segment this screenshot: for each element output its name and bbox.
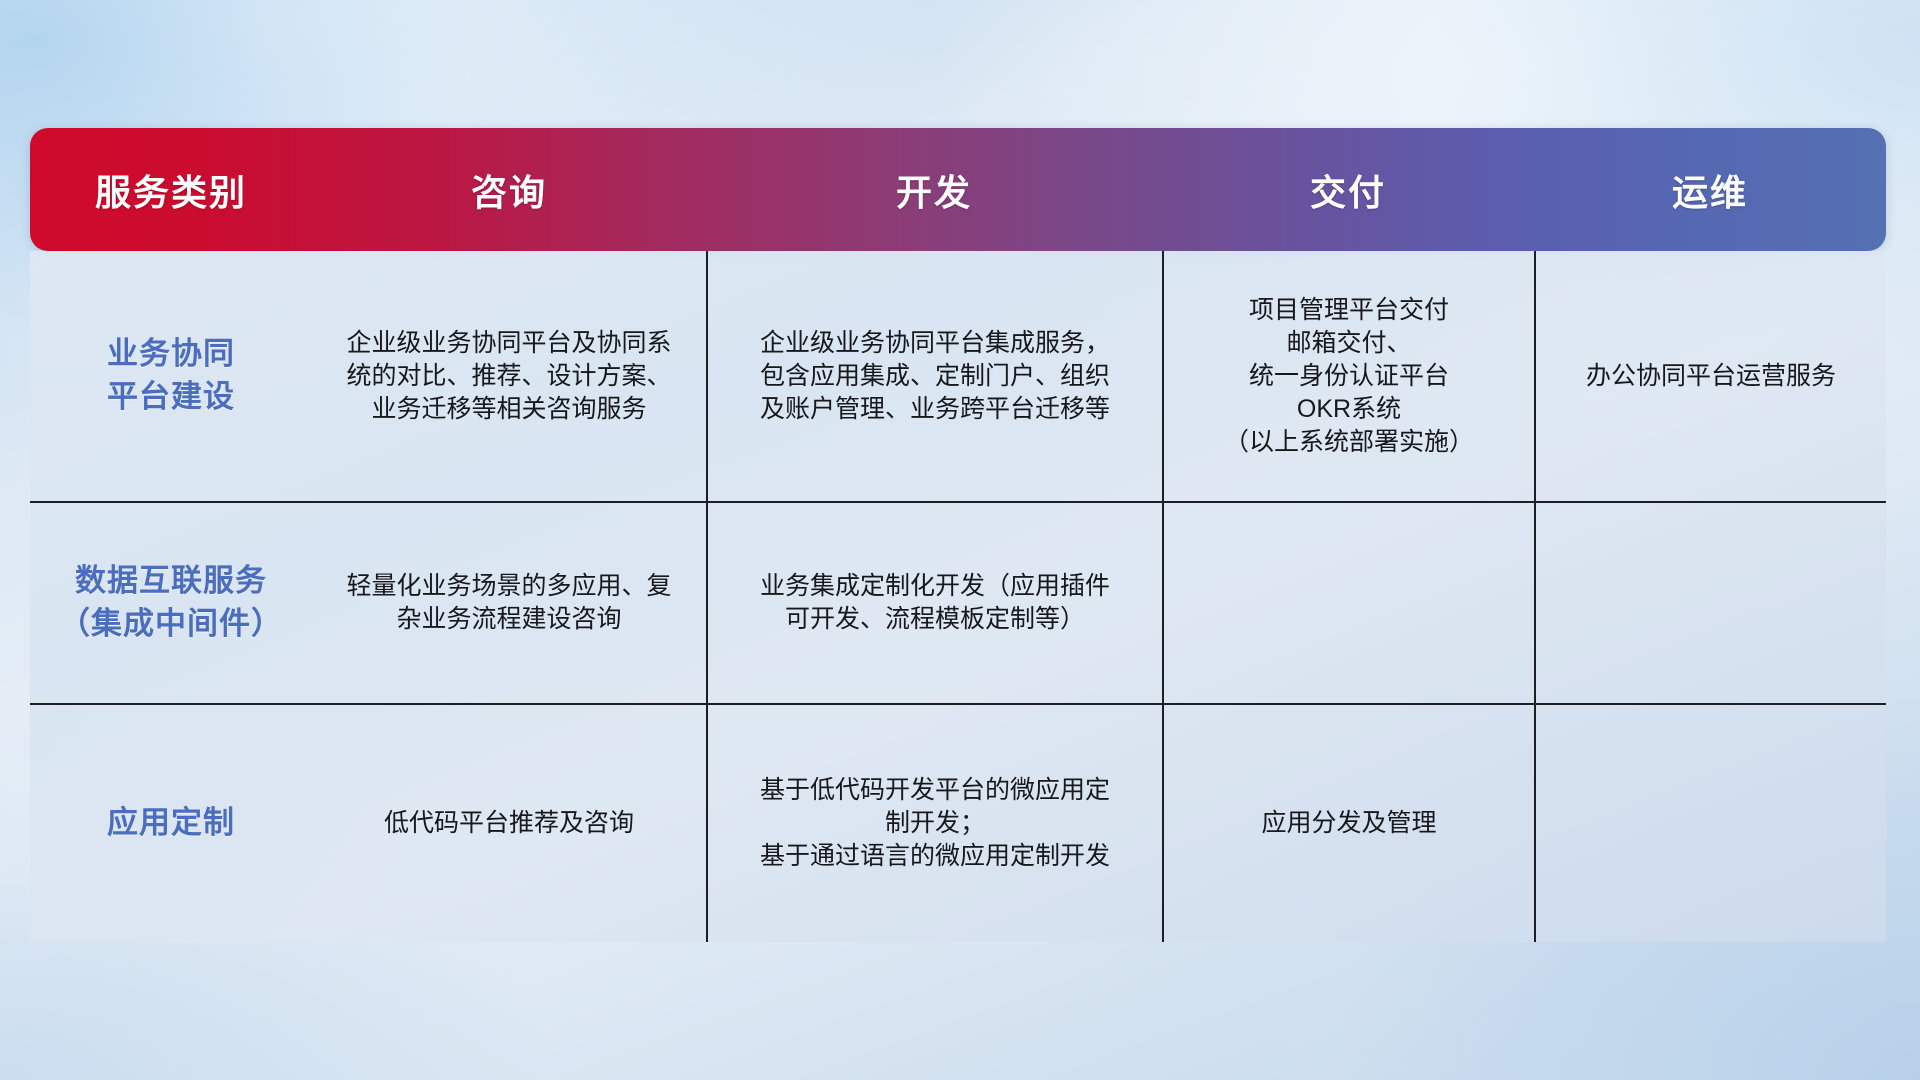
cell-consulting: 低代码平台推荐及咨询 (312, 705, 706, 942)
slide-canvas: 服务类别 咨询 开发 交付 运维 业务协同 平台建设 企业级业务协同平台及协同系… (0, 0, 1920, 1080)
row-category-label: 应用定制 (30, 705, 312, 942)
cell-delivery: 项目管理平台交付 邮箱交付、 统一身份认证平台 OKR系统 （以上系统部署实施） (1162, 251, 1534, 501)
column-header-delivery: 交付 (1162, 128, 1534, 251)
cell-development: 基于低代码开发平台的微应用定 制开发； 基于通过语言的微应用定制开发 (706, 705, 1162, 942)
cell-development: 业务集成定制化开发（应用插件 可开发、流程模板定制等） (706, 503, 1162, 703)
column-header-consulting: 咨询 (312, 128, 706, 251)
cell-consulting: 轻量化业务场景的多应用、复 杂业务流程建设咨询 (312, 503, 706, 703)
row-category-label: 数据互联服务 （集成中间件） (30, 503, 312, 703)
cell-consulting: 企业级业务协同平台及协同系 统的对比、推荐、设计方案、 业务迁移等相关咨询服务 (312, 251, 706, 501)
table-body: 业务协同 平台建设 企业级业务协同平台及协同系 统的对比、推荐、设计方案、 业务… (30, 251, 1886, 942)
cell-delivery (1162, 503, 1534, 703)
column-header-category: 服务类别 (30, 128, 312, 251)
table-row: 应用定制 低代码平台推荐及咨询 基于低代码开发平台的微应用定 制开发； 基于通过… (30, 703, 1886, 942)
column-header-development: 开发 (706, 128, 1162, 251)
cell-development: 企业级业务协同平台集成服务， 包含应用集成、定制门户、组织 及账户管理、业务跨平… (706, 251, 1162, 501)
table-header-row: 服务类别 咨询 开发 交付 运维 (30, 128, 1886, 251)
table-row: 数据互联服务 （集成中间件） 轻量化业务场景的多应用、复 杂业务流程建设咨询 业… (30, 501, 1886, 703)
cell-operations: 办公协同平台运营服务 (1534, 251, 1886, 501)
cell-delivery: 应用分发及管理 (1162, 705, 1534, 942)
services-matrix-table: 服务类别 咨询 开发 交付 运维 业务协同 平台建设 企业级业务协同平台及协同系… (30, 128, 1886, 942)
cell-operations (1534, 503, 1886, 703)
column-header-operations: 运维 (1534, 128, 1886, 251)
row-category-label: 业务协同 平台建设 (30, 251, 312, 501)
cell-operations (1534, 705, 1886, 942)
table-row: 业务协同 平台建设 企业级业务协同平台及协同系 统的对比、推荐、设计方案、 业务… (30, 251, 1886, 501)
